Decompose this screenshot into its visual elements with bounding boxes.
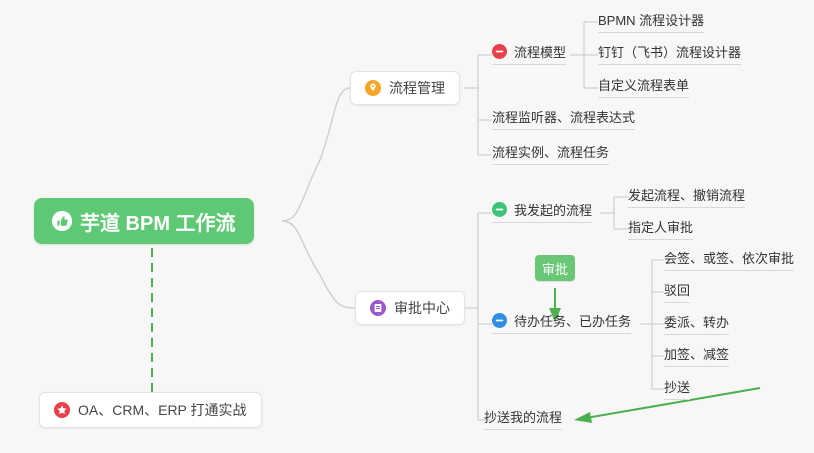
root-node[interactable]: 芋道 BPM 工作流 xyxy=(34,198,254,244)
mindmap-canvas: 芋道 BPM 工作流 流程管理 流程模型 BPMN 流程设计器 钉钉（飞书）流程… xyxy=(0,0,814,453)
tag-approval[interactable]: 审批 xyxy=(535,255,575,281)
leaf-start-cancel-process[interactable]: 发起流程、撤销流程 xyxy=(628,185,745,208)
location-pin-icon xyxy=(365,80,381,96)
leaf-delegate-transfer[interactable]: 委派、转办 xyxy=(664,312,729,335)
leaf-dingtalk-designer[interactable]: 钉钉（飞书）流程设计器 xyxy=(598,42,741,65)
star-circle-icon xyxy=(54,402,70,418)
leaf-assign-approver[interactable]: 指定人审批 xyxy=(628,217,693,240)
leaf-my-submitted-label: 我发起的流程 xyxy=(514,200,592,219)
leaf-custom-form-label: 自定义流程表单 xyxy=(598,75,689,94)
branch-process-management[interactable]: 流程管理 xyxy=(350,71,460,105)
leaf-bpmn-designer[interactable]: BPMN 流程设计器 xyxy=(598,10,704,33)
branch-process-management-label: 流程管理 xyxy=(389,78,445,98)
thumbs-up-icon xyxy=(52,211,72,231)
tag-approval-label: 审批 xyxy=(542,259,568,278)
leaf-assign-approver-label: 指定人审批 xyxy=(628,217,693,236)
leaf-add-remove-sign[interactable]: 加签、减签 xyxy=(664,344,729,367)
leaf-cc-to-me-label: 抄送我的流程 xyxy=(484,407,562,426)
leaf-add-remove-sign-label: 加签、减签 xyxy=(664,344,729,363)
leaf-custom-form[interactable]: 自定义流程表单 xyxy=(598,75,689,98)
leaf-instance-task-label: 流程实例、流程任务 xyxy=(492,142,609,161)
leaf-bpmn-designer-label: BPMN 流程设计器 xyxy=(598,10,704,29)
leaf-carbon-copy-label: 抄送 xyxy=(664,377,690,396)
leaf-process-model-label: 流程模型 xyxy=(514,42,566,61)
leaf-countersign-label: 会签、或签、依次审批 xyxy=(664,248,794,267)
branch-approval-center[interactable]: 审批中心 xyxy=(355,291,465,325)
clipboard-icon xyxy=(370,300,386,316)
leaf-reject-label: 驳回 xyxy=(664,280,690,299)
minus-circle-icon xyxy=(492,202,507,217)
leaf-todo-done-tasks-label: 待办任务、已办任务 xyxy=(514,311,631,330)
leaf-instance-task[interactable]: 流程实例、流程任务 xyxy=(492,142,609,165)
footnote-node[interactable]: OA、CRM、ERP 打通实战 xyxy=(39,392,262,428)
leaf-start-cancel-process-label: 发起流程、撤销流程 xyxy=(628,185,745,204)
leaf-listener-expression[interactable]: 流程监听器、流程表达式 xyxy=(492,107,635,130)
leaf-todo-done-tasks[interactable]: 待办任务、已办任务 xyxy=(492,311,631,334)
root-label: 芋道 BPM 工作流 xyxy=(80,207,236,236)
leaf-dingtalk-designer-label: 钉钉（飞书）流程设计器 xyxy=(598,42,741,61)
minus-circle-icon xyxy=(492,44,507,59)
minus-circle-icon xyxy=(492,313,507,328)
footnote-label: OA、CRM、ERP 打通实战 xyxy=(78,400,247,420)
leaf-my-submitted[interactable]: 我发起的流程 xyxy=(492,200,592,223)
leaf-listener-expression-label: 流程监听器、流程表达式 xyxy=(492,107,635,126)
leaf-carbon-copy[interactable]: 抄送 xyxy=(664,377,690,400)
leaf-delegate-transfer-label: 委派、转办 xyxy=(664,312,729,331)
leaf-process-model[interactable]: 流程模型 xyxy=(492,42,566,65)
branch-approval-center-label: 审批中心 xyxy=(394,298,450,318)
leaf-countersign[interactable]: 会签、或签、依次审批 xyxy=(664,248,794,271)
leaf-reject[interactable]: 驳回 xyxy=(664,280,690,303)
leaf-cc-to-me[interactable]: 抄送我的流程 xyxy=(484,407,562,430)
